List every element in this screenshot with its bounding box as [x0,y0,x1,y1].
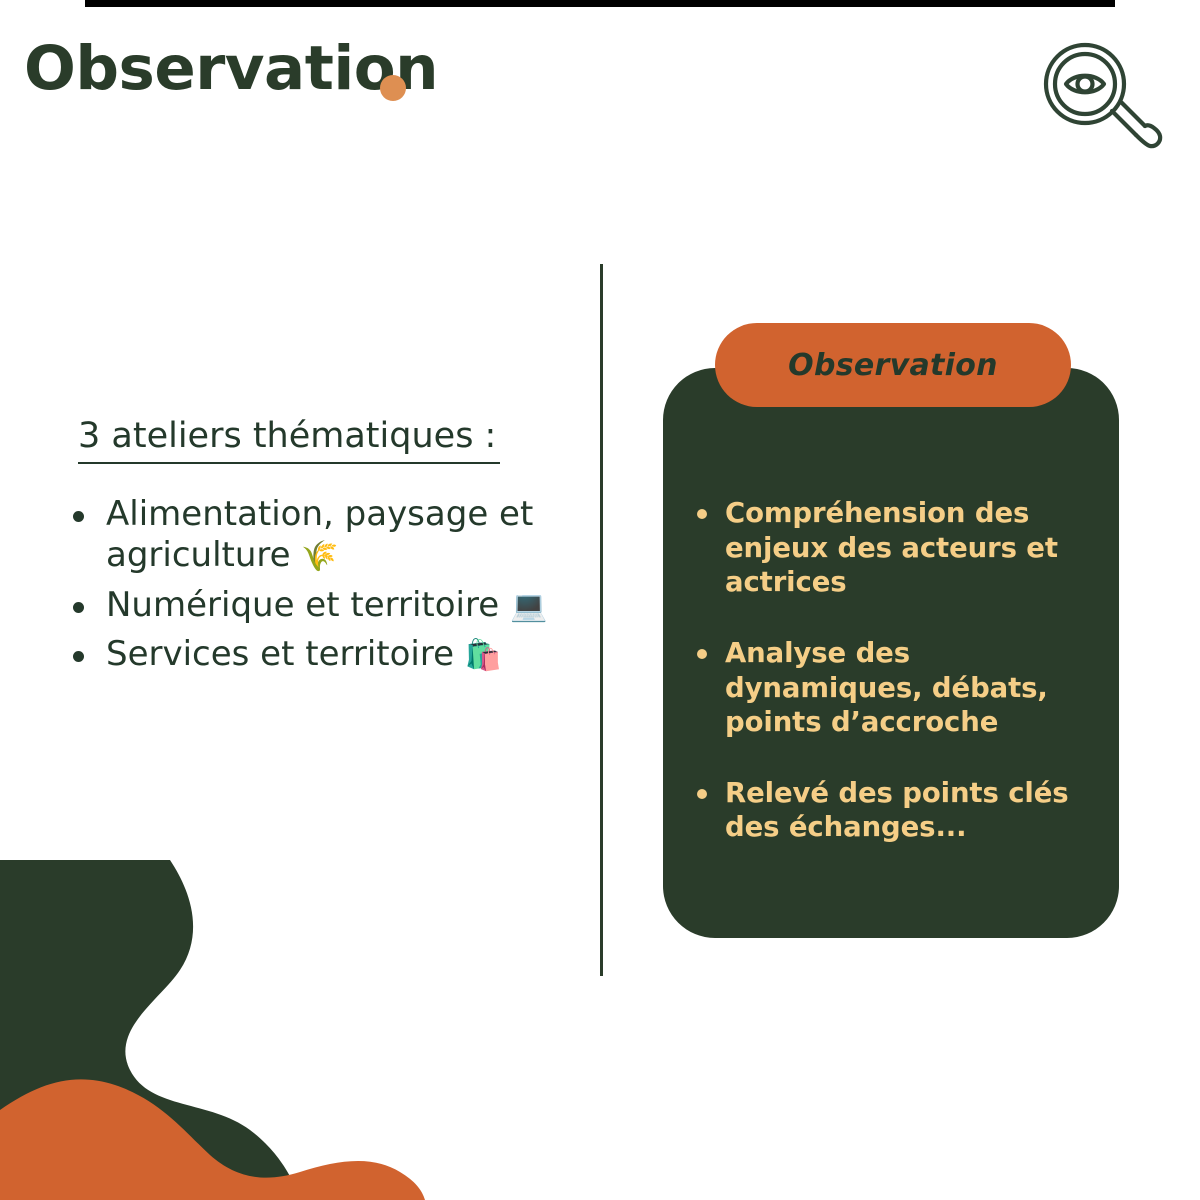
bullet-dot-icon [73,602,84,613]
bullet-dot-icon [697,649,707,659]
magnifier-eye-icon [1032,36,1168,152]
list-item-label: Compréhension des enjeux des acteurs et … [725,497,1058,598]
bullet-dot-icon [73,511,84,522]
slide-canvas: Observation 3 ateliers thématiques : Ali… [0,0,1200,1200]
wheat-emoji-icon: 🌾 [301,539,338,574]
laptop-emoji-icon: 💻 [510,589,547,624]
decorative-blobs [0,860,520,1200]
card-body: Compréhension des enjeux des acteurs et … [663,368,1119,938]
list-item-label: Relevé des points clés des échanges... [725,777,1069,844]
left-content-column: 3 ateliers thématiques : Alimentation, p… [60,415,580,684]
card-badge-label: Observation [788,348,998,383]
list-item: Relevé des points clés des échanges... [685,776,1105,845]
bullet-dot-icon [73,651,84,662]
left-heading: 3 ateliers thématiques : [78,415,500,464]
bullet-dot-icon [697,789,707,799]
list-item: Alimentation, paysage et agriculture 🌾 [60,494,580,577]
page-title: Observation [24,38,438,99]
left-bullet-list: Alimentation, paysage et agriculture 🌾 N… [60,494,580,676]
shopping-bags-emoji-icon: 🛍️ [465,638,502,673]
title-accent-dot [380,75,406,101]
list-item-label: Analyse des dynamiques, débats, points d… [725,637,1048,738]
list-item: Analyse des dynamiques, débats, points d… [685,636,1105,740]
observation-card: Compréhension des enjeux des acteurs et … [663,320,1119,938]
list-item-label: Services et territoire [106,634,465,674]
vertical-divider [600,264,603,976]
bullet-dot-icon [697,509,707,519]
list-item: Numérique et territoire 💻 [60,585,580,626]
list-item: Compréhension des enjeux des acteurs et … [685,496,1105,600]
list-item: Services et territoire 🛍️ [60,634,580,675]
card-bullet-list: Compréhension des enjeux des acteurs et … [685,496,1105,845]
card-badge: Observation [715,323,1071,407]
top-rule [85,0,1115,7]
list-item-label: Numérique et territoire [106,585,510,625]
